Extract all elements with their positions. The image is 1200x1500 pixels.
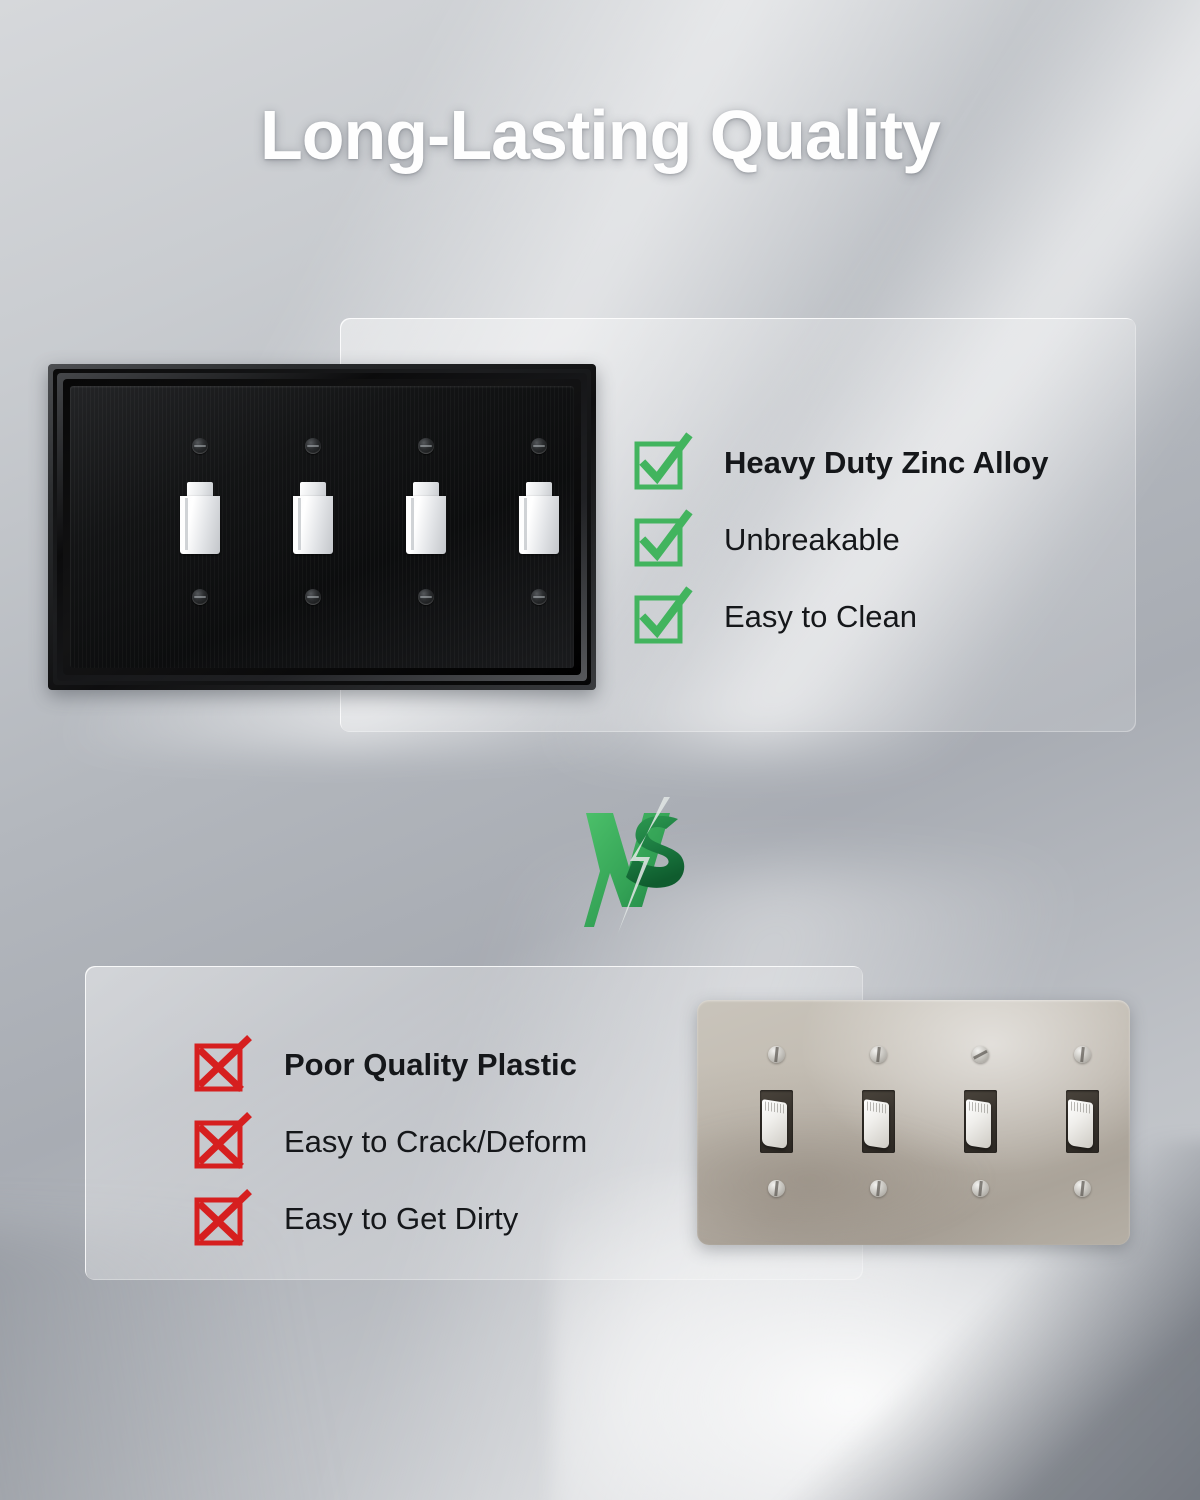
metal-plate-screw [305,438,321,454]
toggle-body [180,496,220,554]
feature-row-pro-3: Easy to Clean [636,578,1048,655]
plastic-plate-toggle [864,1099,889,1149]
plastic-plate-screw [870,1046,887,1063]
feature-label: Easy to Crack/Deform [284,1124,587,1160]
toggle-body [406,496,446,554]
feature-row-con-2: Easy to Crack/Deform [196,1103,587,1180]
green-check-icon [636,439,683,486]
metal-plate-screw [531,589,547,605]
feature-row-con-1: Poor Quality Plastic [196,1026,587,1103]
page-title: Long-Lasting Quality [0,95,1200,175]
plastic-plate-screw [768,1180,785,1197]
green-check-icon [636,516,683,563]
plastic-plate-screw [870,1180,887,1197]
red-x-icon [196,1118,243,1165]
plastic-wall-plate-image [697,1000,1130,1245]
plastic-plate-screw [972,1180,989,1197]
feature-row-pro-1: Heavy Duty Zinc Alloy [636,424,1048,501]
plastic-plate-toggle [966,1099,991,1149]
feature-label: Unbreakable [724,522,900,558]
plastic-plate-toggle [762,1099,787,1149]
feature-row-con-3: Easy to Get Dirty [196,1180,587,1257]
plastic-plate-screw [1074,1180,1091,1197]
plastic-plate-screw [1074,1046,1091,1063]
toggle-body [293,496,333,554]
metal-plate-toggle [180,482,220,554]
toggle-body [519,496,559,554]
feature-label: Heavy Duty Zinc Alloy [724,445,1048,481]
plastic-plate-screw [768,1046,785,1063]
plastic-plate-switch-opening [1066,1090,1099,1153]
metal-plate-screw [531,438,547,454]
green-check-icon [636,593,683,640]
metal-plate-toggle [293,482,333,554]
metal-plate-screw [305,589,321,605]
infographic-canvas: Long-Lasting Quality [0,0,1200,1500]
feature-label: Easy to Clean [724,599,917,635]
plastic-plate-toggle [1068,1099,1093,1149]
feature-label: Poor Quality Plastic [284,1047,577,1083]
feature-row-pro-2: Unbreakable [636,501,1048,578]
metal-plate-screw [192,589,208,605]
plastic-plate-switch-opening [964,1090,997,1153]
metal-plate-screw [418,438,434,454]
pros-feature-list: Heavy Duty Zinc Alloy Unbreakable Easy t… [636,424,1048,655]
plastic-plate-switch-opening [862,1090,895,1153]
vs-divider-icon [566,795,706,935]
red-x-icon [196,1041,243,1088]
red-x-icon [196,1195,243,1242]
metal-plate-toggle [406,482,446,554]
plastic-plate-screw [972,1046,989,1063]
cons-feature-list: Poor Quality Plastic Easy to Crack/Defor… [196,1026,587,1257]
metal-plate-screw [192,438,208,454]
feature-label: Easy to Get Dirty [284,1201,518,1237]
metal-plate-toggle [519,482,559,554]
metal-wall-plate-image [48,364,596,690]
metal-plate-screw [418,589,434,605]
plastic-plate-switch-opening [760,1090,793,1153]
